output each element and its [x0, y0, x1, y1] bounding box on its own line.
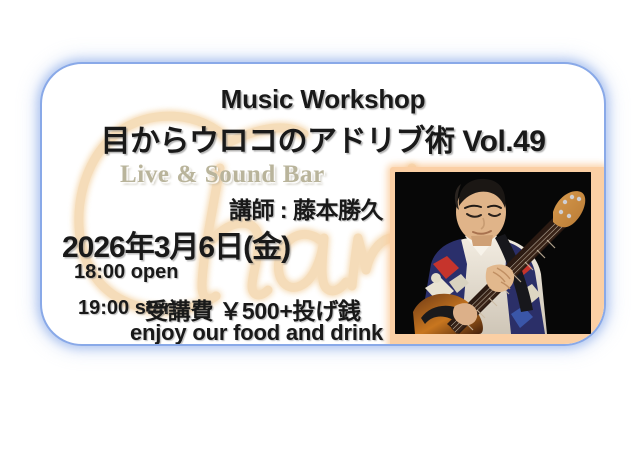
event-date: 2026年3月6日(金) [62, 222, 290, 266]
open-time: 18:00 open [74, 261, 178, 284]
guitarist-photo-frame [390, 167, 606, 346]
venue-name: Live & Sound Bar [120, 161, 325, 189]
event-card: Music Workshop 目からウロコのアドリブ術 Vol.49 Live … [40, 62, 606, 346]
eyebrow-music-workshop: Music Workshop [42, 84, 604, 115]
guitarist-photo [395, 172, 591, 334]
page-title: 目からウロコのアドリブ術 Vol.49 [42, 116, 604, 160]
poster-canvas: Music Workshop 目からウロコのアドリブ術 Vol.49 Live … [0, 0, 640, 452]
food-drink-note: enjoy our food and drink [130, 320, 383, 346]
lecturer-label: 講師 : 藤本勝久 [229, 191, 383, 225]
